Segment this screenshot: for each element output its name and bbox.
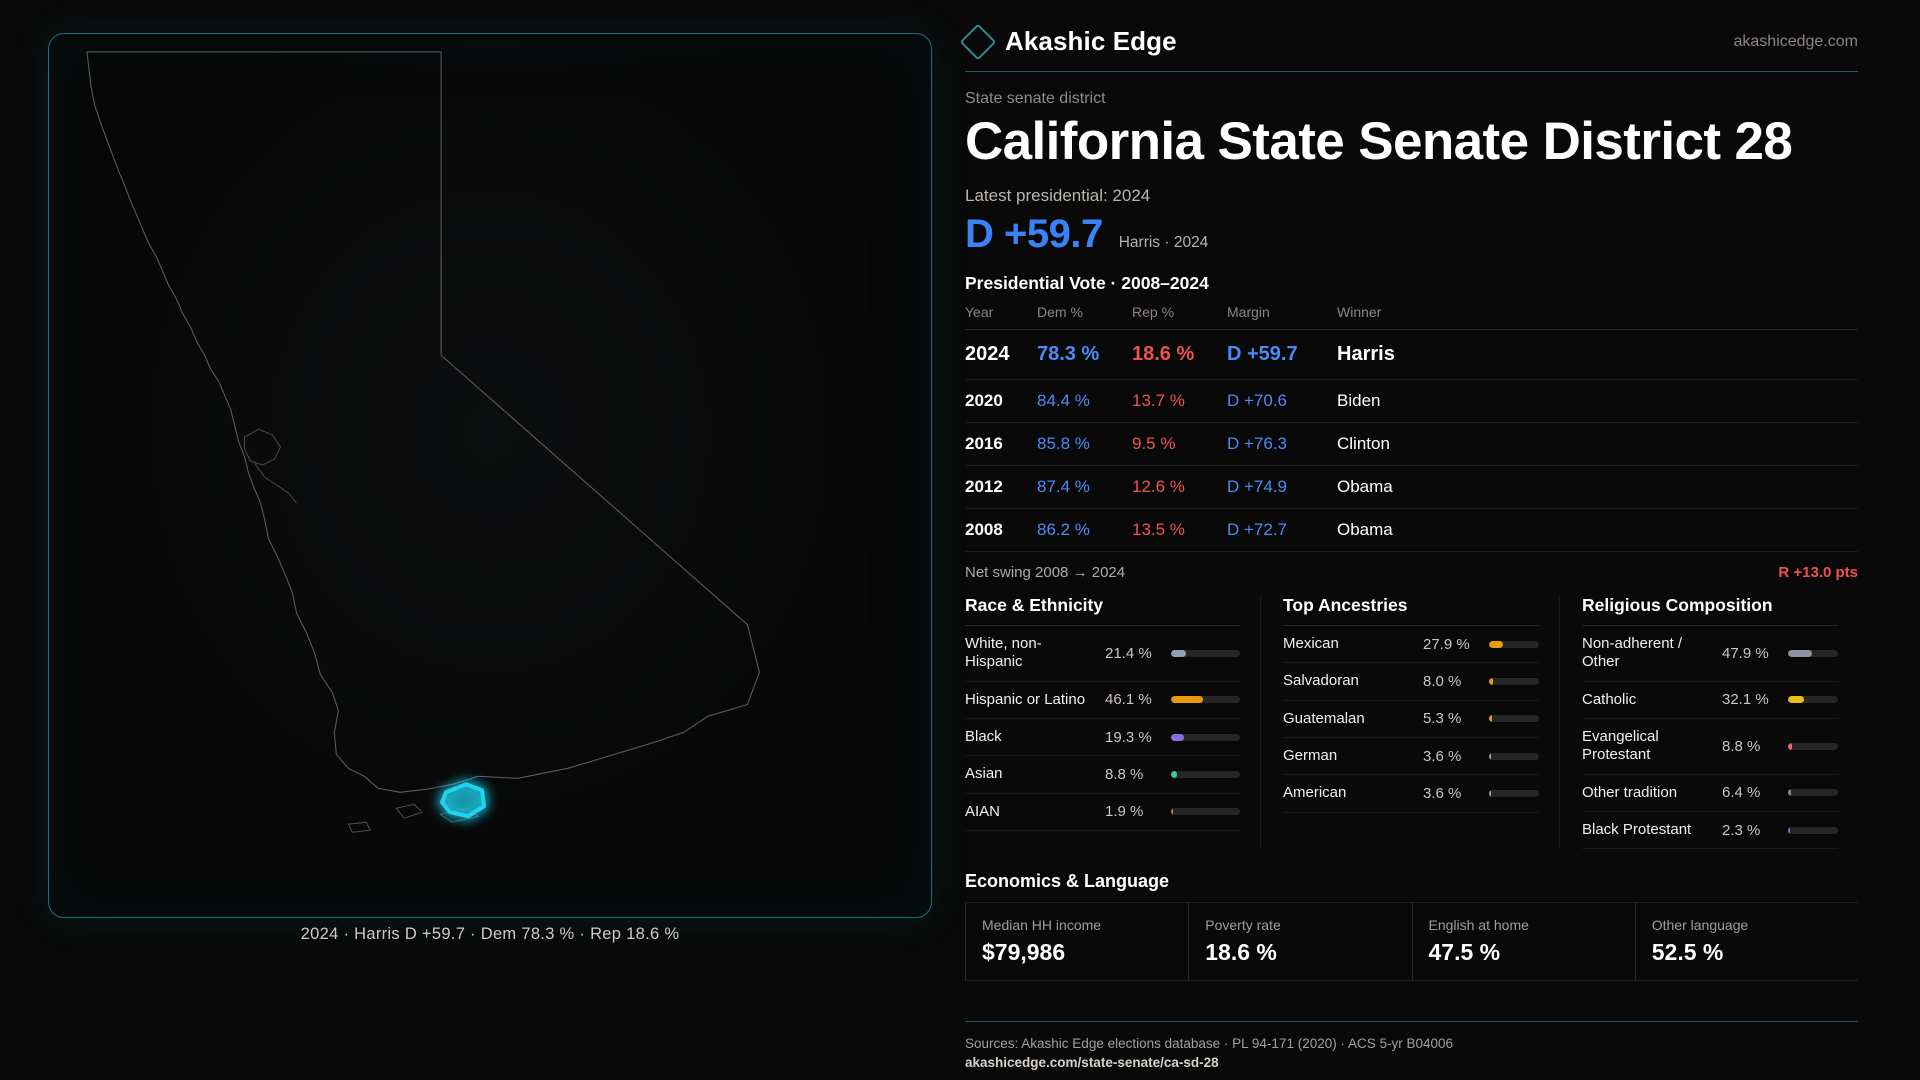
bay-detail-path-2: [255, 463, 297, 503]
bar-fill: [1171, 696, 1203, 703]
cell-winner: Biden: [1337, 380, 1858, 423]
religious-composition-title: Religious Composition: [1582, 595, 1838, 626]
cell-margin: D +72.7: [1227, 509, 1337, 552]
item-label: Evangelical Protestant: [1582, 728, 1714, 765]
stat-label: Median HH income: [982, 917, 1172, 933]
net-swing-value: R +13.0 pts: [1778, 564, 1858, 581]
net-swing-row: Net swing 2008 → 2024 R +13.0 pts: [965, 552, 1858, 587]
bar-track: [1171, 696, 1240, 703]
latest-presidential-label: Latest presidential: 2024: [965, 186, 1858, 206]
table-col-3: Margin: [1227, 304, 1337, 330]
top-ancestries-column: Top Ancestries Mexican 27.9 % Salvadoran…: [1260, 595, 1559, 849]
item-value: 46.1 %: [1105, 691, 1163, 708]
list-item: Black 19.3 %: [965, 719, 1240, 756]
item-value: 32.1 %: [1722, 691, 1780, 708]
race-rows: White, non-Hispanic 21.4 % Hispanic or L…: [965, 626, 1240, 831]
stat-value: 18.6 %: [1205, 939, 1395, 966]
item-value: 1.9 %: [1105, 803, 1163, 820]
item-value: 47.9 %: [1722, 645, 1780, 662]
brand-url[interactable]: akashicedge.com: [1733, 33, 1858, 51]
vote-table-title: Presidential Vote · 2008–2024: [965, 273, 1858, 294]
cell-winner: Obama: [1337, 466, 1858, 509]
religious-composition-column: Religious Composition Non-adherent / Oth…: [1559, 595, 1858, 849]
list-item: Evangelical Protestant 8.8 %: [1582, 719, 1838, 775]
bar-track: [1788, 696, 1838, 703]
island-path-3: [348, 822, 370, 832]
stat-value: $79,986: [982, 939, 1172, 966]
item-label: Guatemalan: [1283, 710, 1415, 728]
table-row: 2012 87.4 % 12.6 % D +74.9 Obama: [965, 466, 1858, 509]
item-label: AIAN: [965, 803, 1097, 821]
table-col-1: Dem %: [1037, 304, 1132, 330]
header-divider: [965, 71, 1858, 72]
headline-margin: D +59.7 Harris · 2024: [965, 212, 1858, 257]
margin-subtitle: Harris · 2024: [1119, 234, 1209, 252]
item-label: Mexican: [1283, 635, 1415, 653]
net-swing-label: Net swing 2008 → 2024: [965, 564, 1125, 581]
item-label: Asian: [965, 765, 1097, 783]
table-row: 2024 78.3 % 18.6 % D +59.7 Harris: [965, 330, 1858, 380]
table-col-4: Winner: [1337, 304, 1858, 330]
island-path: [396, 804, 422, 818]
map-panel[interactable]: [48, 33, 932, 918]
bar-fill: [1788, 743, 1792, 750]
bar-track: [1171, 808, 1240, 815]
ancestry-rows: Mexican 27.9 % Salvadoran 8.0 % Guatemal…: [1283, 626, 1539, 812]
brand-row: Akashic Edge akashicedge.com: [965, 26, 1858, 71]
cell-winner: Harris: [1337, 330, 1858, 380]
item-value: 3.6 %: [1423, 748, 1481, 765]
eyebrow-label: State senate district: [965, 90, 1858, 108]
data-column: Akashic Edge akashicedge.com State senat…: [950, 0, 1920, 1080]
bar-fill: [1489, 715, 1492, 722]
item-value: 2.3 %: [1722, 822, 1780, 839]
stat-label: Poverty rate: [1205, 917, 1395, 933]
bar-fill: [1489, 790, 1491, 797]
list-item: Catholic 32.1 %: [1582, 682, 1838, 719]
item-label: Other tradition: [1582, 784, 1714, 802]
cell-year: 2024: [965, 330, 1037, 380]
list-item: German 3.6 %: [1283, 738, 1539, 775]
bar-track: [1788, 650, 1838, 657]
cell-winner: Clinton: [1337, 423, 1858, 466]
item-label: Salvadoran: [1283, 672, 1415, 690]
bar-track: [1788, 827, 1838, 834]
cell-rep: 18.6 %: [1132, 330, 1227, 380]
list-item: Asian 8.8 %: [965, 756, 1240, 793]
bar-fill: [1489, 678, 1493, 685]
bar-fill: [1171, 734, 1184, 741]
cell-margin: D +70.6: [1227, 380, 1337, 423]
item-value: 8.0 %: [1423, 673, 1481, 690]
bar-track: [1489, 641, 1539, 648]
list-item: Salvadoran 8.0 %: [1283, 663, 1539, 700]
bar-fill: [1489, 753, 1491, 760]
bar-fill: [1171, 650, 1186, 657]
table-header-row: YearDem %Rep %MarginWinner: [965, 304, 1858, 330]
cell-margin: D +76.3: [1227, 423, 1337, 466]
cell-dem: 87.4 %: [1037, 466, 1132, 509]
map-caption: 2024 · Harris D +59.7 · Dem 78.3 % · Rep…: [48, 925, 932, 944]
table-row: 2016 85.8 % 9.5 % D +76.3 Clinton: [965, 423, 1858, 466]
cell-dem: 85.8 %: [1037, 423, 1132, 466]
brand-left: Akashic Edge: [965, 26, 1177, 57]
bar-fill: [1171, 808, 1173, 815]
cell-year: 2020: [965, 380, 1037, 423]
race-ethnicity-title: Race & Ethnicity: [965, 595, 1240, 626]
cell-winner: Obama: [1337, 509, 1858, 552]
cell-year: 2008: [965, 509, 1037, 552]
economics-title: Economics & Language: [965, 871, 1858, 892]
state-outline-path: [87, 52, 759, 792]
item-value: 8.8 %: [1722, 738, 1780, 755]
list-item: Guatemalan 5.3 %: [1283, 701, 1539, 738]
stat-value: 47.5 %: [1429, 939, 1619, 966]
page-title: California State Senate District 28: [965, 114, 1858, 170]
item-label: Hispanic or Latino: [965, 691, 1097, 709]
list-item: Non-adherent / Other 47.9 %: [1582, 626, 1838, 682]
bar-fill: [1788, 696, 1804, 703]
infographic-page: 2024 · Harris D +59.7 · Dem 78.3 % · Rep…: [0, 0, 1920, 1080]
bar-track: [1489, 790, 1539, 797]
stat-card: Other language 52.5 %: [1635, 903, 1858, 980]
item-value: 8.8 %: [1105, 766, 1163, 783]
item-label: German: [1283, 747, 1415, 765]
bar-fill: [1788, 650, 1812, 657]
bar-track: [1489, 715, 1539, 722]
bar-track: [1171, 771, 1240, 778]
cell-margin: D +59.7: [1227, 330, 1337, 380]
table-col-0: Year: [965, 304, 1037, 330]
margin-value: D +59.7: [965, 212, 1103, 257]
religion-rows: Non-adherent / Other 47.9 % Catholic 32.…: [1582, 626, 1838, 849]
table-body: 2024 78.3 % 18.6 % D +59.7 Harris 2020 8…: [965, 330, 1858, 552]
list-item: Other tradition 6.4 %: [1582, 775, 1838, 812]
cell-rep: 13.5 %: [1132, 509, 1227, 552]
stat-card: English at home 47.5 %: [1412, 903, 1635, 980]
brand-name: Akashic Edge: [1005, 26, 1177, 57]
list-item: Black Protestant 2.3 %: [1582, 812, 1838, 849]
map-column: 2024 · Harris D +59.7 · Dem 78.3 % · Rep…: [0, 0, 950, 1080]
stat-card: Median HH income $79,986: [965, 903, 1188, 980]
item-label: Black: [965, 728, 1097, 746]
bay-detail-path: [245, 429, 281, 465]
table-row: 2008 86.2 % 13.5 % D +72.7 Obama: [965, 509, 1858, 552]
bar-track: [1489, 753, 1539, 760]
item-value: 19.3 %: [1105, 729, 1163, 746]
bar-fill: [1489, 641, 1503, 648]
item-value: 27.9 %: [1423, 636, 1481, 653]
diamond-outline-icon: [960, 23, 997, 60]
economics-grid: Median HH income $79,986 Poverty rate 18…: [965, 902, 1858, 981]
list-item: Hispanic or Latino 46.1 %: [965, 682, 1240, 719]
stat-label: Other language: [1652, 917, 1842, 933]
item-label: Non-adherent / Other: [1582, 635, 1714, 672]
item-label: American: [1283, 784, 1415, 802]
bar-track: [1171, 650, 1240, 657]
bar-fill: [1171, 771, 1177, 778]
list-item: White, non-Hispanic 21.4 %: [965, 626, 1240, 682]
item-label: Catholic: [1582, 691, 1714, 709]
stat-label: English at home: [1429, 917, 1619, 933]
item-value: 5.3 %: [1423, 710, 1481, 727]
cell-rep: 12.6 %: [1132, 466, 1227, 509]
bar-fill: [1788, 827, 1790, 834]
cell-dem: 84.4 %: [1037, 380, 1132, 423]
cell-year: 2016: [965, 423, 1037, 466]
item-value: 6.4 %: [1722, 784, 1780, 801]
demographics-grid: Race & Ethnicity White, non-Hispanic 21.…: [965, 595, 1858, 849]
cell-rep: 13.7 %: [1132, 380, 1227, 423]
bar-fill: [1788, 789, 1791, 796]
sources-url[interactable]: akashicedge.com/state-senate/ca-sd-28: [965, 1055, 1858, 1070]
item-value: 21.4 %: [1105, 645, 1163, 662]
highlighted-district-path: [442, 784, 484, 816]
sources-divider: [965, 1021, 1858, 1022]
cell-year: 2012: [965, 466, 1037, 509]
sources-line: Sources: Akashic Edge elections database…: [965, 1034, 1858, 1055]
california-map-svg: [49, 34, 931, 917]
table-row: 2020 84.4 % 13.7 % D +70.6 Biden: [965, 380, 1858, 423]
table-col-2: Rep %: [1132, 304, 1227, 330]
list-item: American 3.6 %: [1283, 775, 1539, 812]
cell-dem: 78.3 %: [1037, 330, 1132, 380]
bar-track: [1788, 743, 1838, 750]
stat-value: 52.5 %: [1652, 939, 1842, 966]
item-value: 3.6 %: [1423, 785, 1481, 802]
cell-dem: 86.2 %: [1037, 509, 1132, 552]
bar-track: [1489, 678, 1539, 685]
top-ancestries-title: Top Ancestries: [1283, 595, 1539, 626]
list-item: AIAN 1.9 %: [965, 794, 1240, 831]
list-item: Mexican 27.9 %: [1283, 626, 1539, 663]
item-label: White, non-Hispanic: [965, 635, 1097, 672]
cell-margin: D +74.9: [1227, 466, 1337, 509]
presidential-vote-table: YearDem %Rep %MarginWinner 2024 78.3 % 1…: [965, 304, 1858, 552]
race-ethnicity-column: Race & Ethnicity White, non-Hispanic 21.…: [965, 595, 1260, 849]
cell-rep: 9.5 %: [1132, 423, 1227, 466]
stat-card: Poverty rate 18.6 %: [1188, 903, 1411, 980]
bar-track: [1788, 789, 1838, 796]
bar-track: [1171, 734, 1240, 741]
item-label: Black Protestant: [1582, 821, 1714, 839]
